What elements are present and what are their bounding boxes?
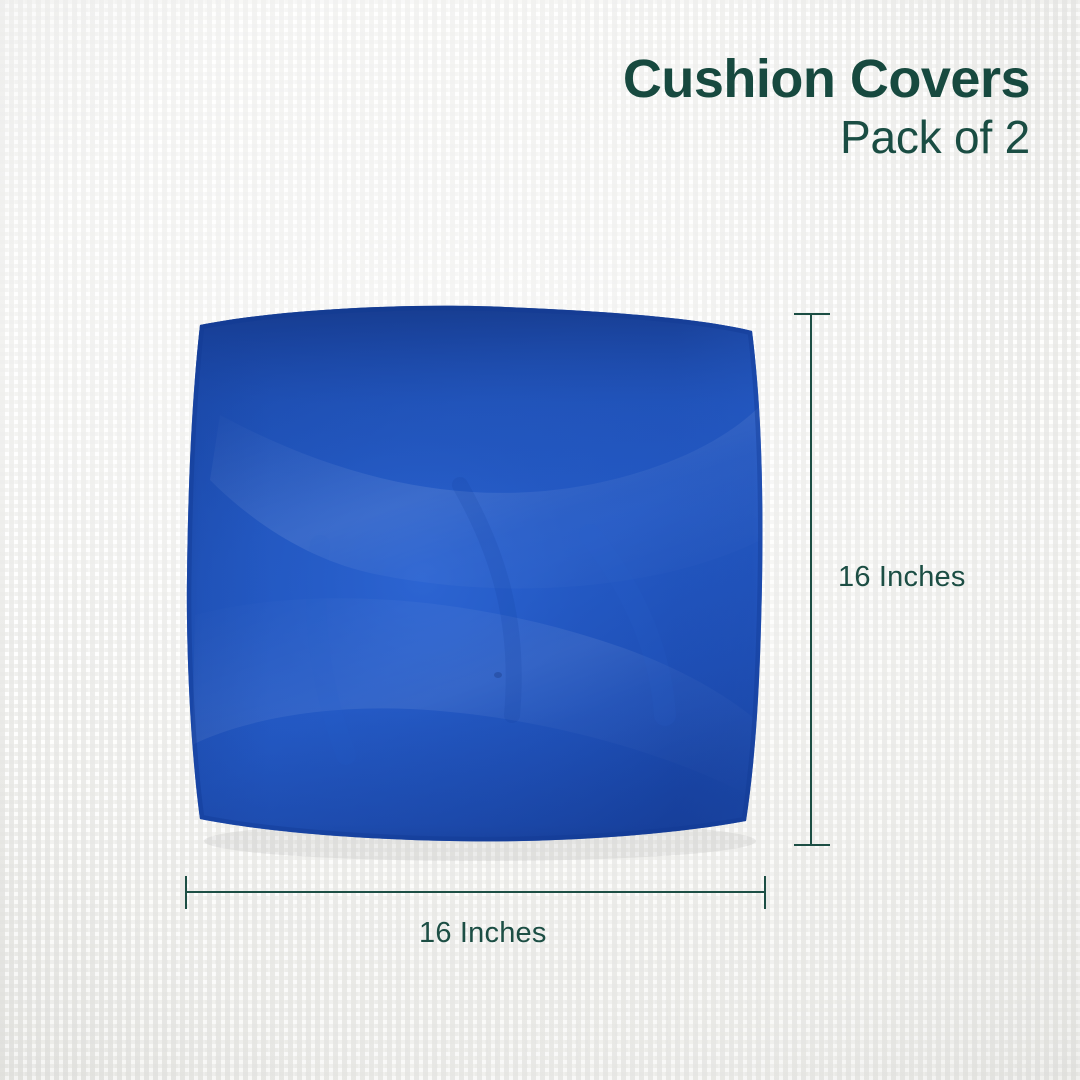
cushion-shading-group — [160, 285, 785, 875]
height-dimension-line — [810, 314, 812, 845]
height-dimension-label: 16 Inches — [838, 561, 966, 594]
product-heading: Cushion Covers Pack of 2 — [623, 52, 1030, 160]
width-dimension-line — [186, 891, 766, 893]
product-image-canvas: Cushion Covers Pack of 2 — [0, 0, 1080, 1080]
width-dimension-cap-left-icon — [185, 876, 187, 909]
cushion-image — [160, 285, 785, 875]
cushion-illustration — [160, 285, 785, 875]
cushion-fabric-speck — [494, 672, 502, 678]
width-dimension-cap-right-icon — [764, 876, 766, 909]
product-title: Cushion Covers — [623, 52, 1030, 106]
height-dimension-cap-bottom-icon — [794, 844, 830, 846]
product-subtitle: Pack of 2 — [623, 114, 1030, 160]
height-dimension-cap-top-icon — [794, 313, 830, 315]
width-dimension-label: 16 Inches — [419, 917, 547, 950]
